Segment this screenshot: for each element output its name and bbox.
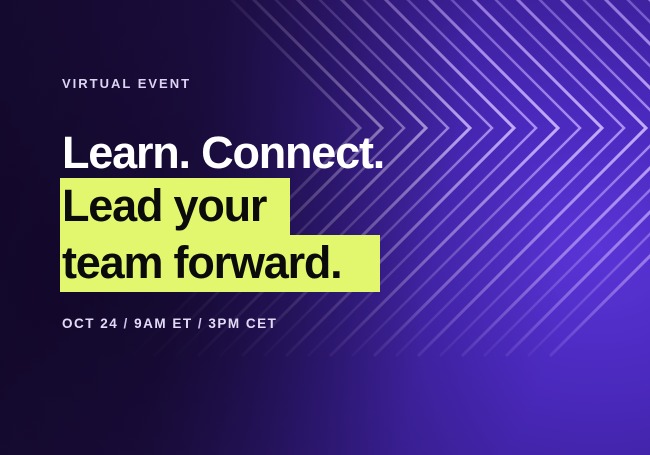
headline-line-1: Learn. Connect. xyxy=(60,128,530,178)
headline-line-3: team forward. xyxy=(60,235,380,292)
event-time-et: 9AM ET xyxy=(134,316,193,331)
datetime-separator-1: / xyxy=(124,316,129,331)
event-datetime: OCT 24 / 9AM ET / 3PM CET xyxy=(62,316,277,331)
event-banner: VIRTUAL EVENT Learn. Connect. Lead your … xyxy=(0,0,650,455)
headline-line-2: Lead your xyxy=(60,178,290,235)
banner-content: VIRTUAL EVENT Learn. Connect. Lead your … xyxy=(60,0,590,455)
event-time-cet: 3PM CET xyxy=(208,316,277,331)
event-date: OCT 24 xyxy=(62,316,118,331)
headline: Learn. Connect. Lead your team forward. xyxy=(60,128,530,292)
eyebrow-label: VIRTUAL EVENT xyxy=(62,76,191,91)
datetime-separator-2: / xyxy=(198,316,203,331)
